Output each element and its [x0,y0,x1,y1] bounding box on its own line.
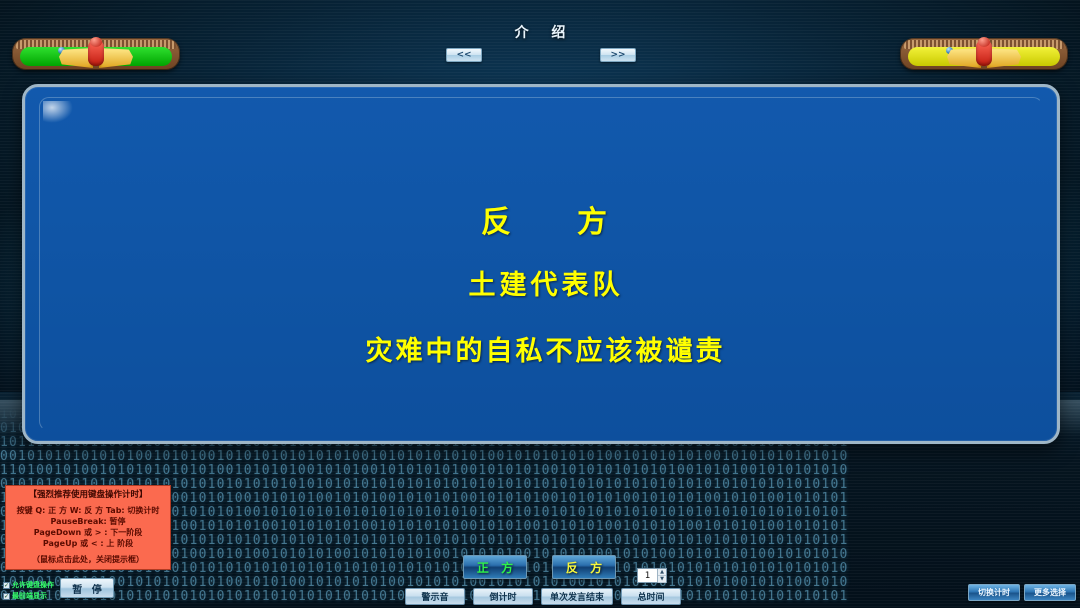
stepper-up-icon[interactable]: ▲ [658,569,666,576]
debate-topic: 灾难中的自私不应该被谴责 [25,329,1060,368]
total-time-button[interactable]: 总时间 [621,588,681,605]
hint-title: 【强烈推荐使用键盘操作计时】 [6,490,170,501]
debate-team-name: 土建代表队 [25,263,1060,302]
panel-highlight [43,101,73,123]
stepper-down-icon[interactable]: ▼ [658,576,666,583]
hint-line-keys: 按键 Q: 正 方 W: 反 方 Tab: 切换计时 [6,505,170,516]
nav-prev-button[interactable]: << [446,48,482,62]
checkbox-box[interactable]: ✓ [3,582,10,589]
keyboard-hint-tooltip[interactable]: 【强烈推荐使用键盘操作计时】 按键 Q: 正 方 W: 反 方 Tab: 切换计… [5,485,171,570]
switch-timer-button[interactable]: 切换计时 [968,584,1020,601]
debate-side-heading: 反 方 [25,197,1060,241]
speech-end-button[interactable]: 单次发言结束 [541,588,613,605]
checkbox-allow-keyboard[interactable]: ✓ 允许键盘操作 [3,580,54,590]
warning-sound-button[interactable]: 警示音 [405,588,465,605]
hint-line-next: PageDown 或 > : 下一阶段 [6,527,170,538]
checkbox-box[interactable]: ✓ [3,593,10,600]
pause-button[interactable]: 暂 停 [60,578,114,598]
stepper-arrows[interactable]: ▲ ▼ [657,569,666,582]
introduction-panel: 反 方 土建代表队 灾难中的自私不应该被谴责 [22,84,1060,444]
timer-pro-side-button[interactable]: 正 方 [463,555,527,579]
plaque-con-side[interactable]: 反 方 [900,38,1068,70]
checkbox-always-on-top[interactable]: ✓ 最前端显示 [3,591,47,601]
ribbon-bow-icon [947,40,1021,74]
checkbox-always-on-top-label: 最前端显示 [12,591,47,601]
round-number-value[interactable]: 1 [638,569,657,582]
hint-close-note: （鼠标点击此处，关闭提示框） [6,554,170,565]
hint-line-pause: PauseBreak: 暂停 [6,516,170,527]
plaque-pro-side[interactable]: 正 方 [12,38,180,70]
timer-con-side-button[interactable]: 反 方 [552,555,616,579]
more-options-button[interactable]: 更多选择 [1024,584,1076,601]
nav-next-button[interactable]: >> [600,48,636,62]
hint-line-prev: PageUp 或 < : 上 阶段 [6,538,170,549]
checkbox-allow-keyboard-label: 允许键盘操作 [12,580,54,590]
round-number-stepper[interactable]: 1 ▲ ▼ [637,568,667,583]
countdown-button[interactable]: 倒计时 [473,588,533,605]
ribbon-bow-icon [59,40,133,74]
